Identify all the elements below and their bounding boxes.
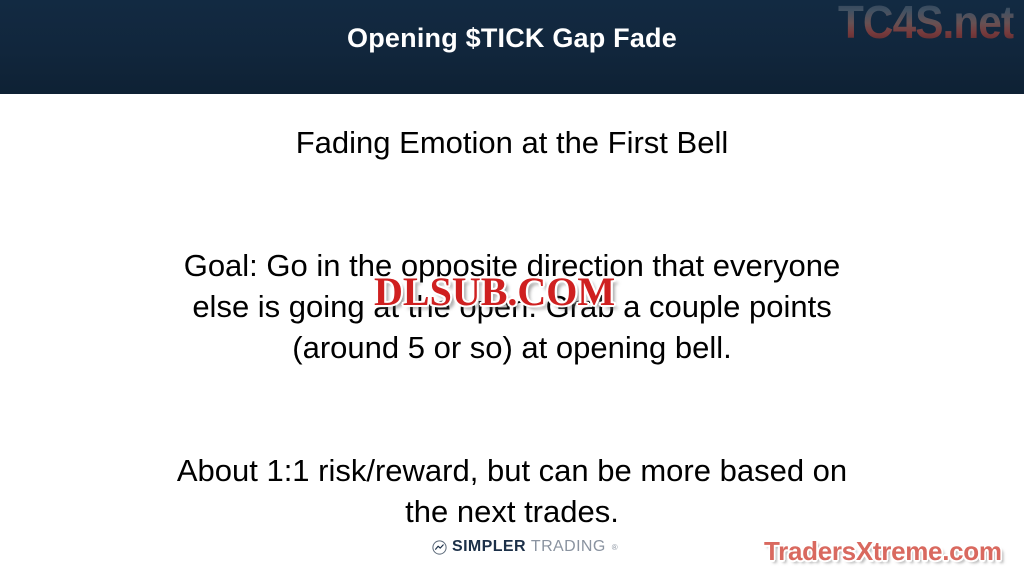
logo-word-simpler: SIMPLER [452, 538, 526, 556]
logo-word-trading: TRADING [531, 538, 606, 556]
slide-header-bar: Opening $TICK Gap Fade TC4S.net [0, 0, 1024, 94]
paragraph-spacer [112, 409, 912, 450]
tc4s-watermark: TC4S.net [838, 0, 1014, 49]
paragraph-risk-reward: About 1:1 risk/reward, but can be more b… [112, 450, 912, 532]
text-line: (around 5 or so) at opening bell. [112, 327, 912, 368]
slide-body: Fading Emotion at the First Bell Goal: G… [0, 94, 1024, 576]
chart-circle-icon [432, 540, 447, 555]
presentation-slide: Opening $TICK Gap Fade TC4S.net Fading E… [0, 0, 1024, 576]
simpler-trading-logo: SIMPLERTRADING® [432, 538, 618, 556]
registered-mark: ® [612, 543, 618, 552]
tradersxtreme-watermark: TradersXtreme.com [764, 536, 1002, 567]
text-line: Fading Emotion at the First Bell [112, 122, 912, 163]
paragraph-subtitle: Fading Emotion at the First Bell [112, 122, 912, 163]
paragraph-spacer [112, 204, 912, 245]
slide-content-block: Fading Emotion at the First Bell Goal: G… [112, 122, 912, 532]
paragraph-spacer [112, 163, 912, 204]
paragraph-spacer [112, 368, 912, 409]
text-line: About 1:1 risk/reward, but can be more b… [112, 450, 912, 491]
dlsub-watermark: DLSUB.COM [374, 268, 615, 315]
text-line: the next trades. [112, 491, 912, 532]
